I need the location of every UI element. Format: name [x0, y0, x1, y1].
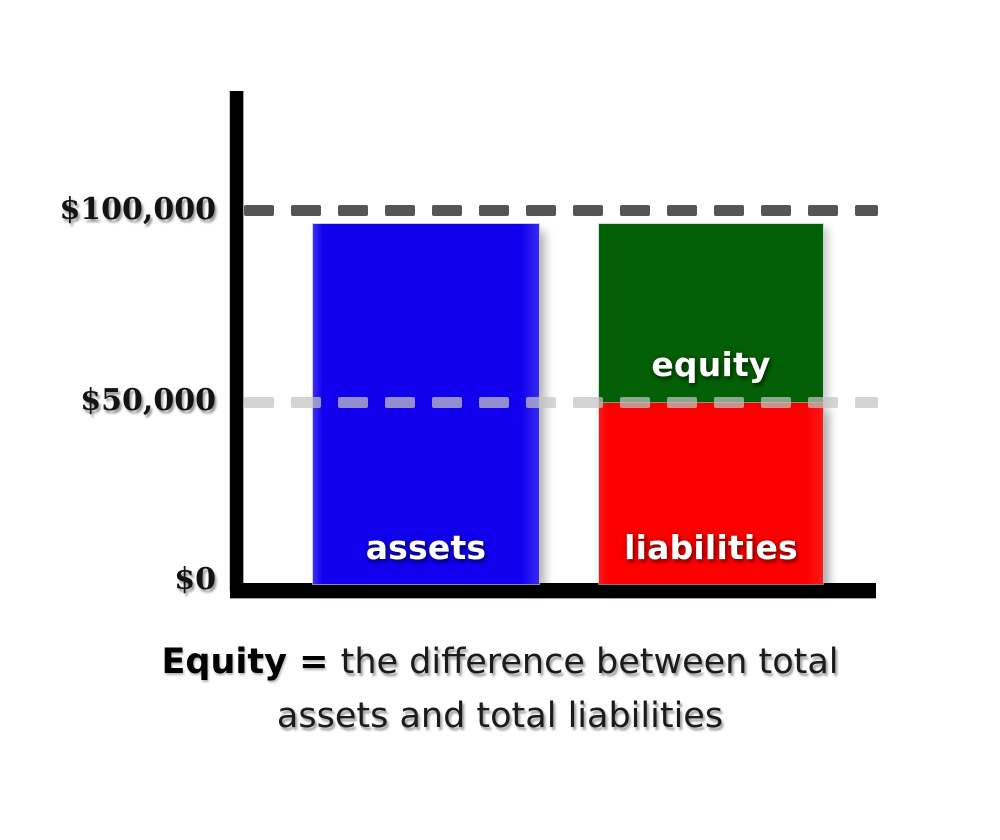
- bar-label-equity: equity: [599, 345, 823, 384]
- gridline-dash: [385, 205, 415, 216]
- gridline-dash: [479, 205, 509, 216]
- caption-equity-term: Equity =: [161, 642, 340, 682]
- gridline-dash: [291, 205, 321, 216]
- gridline-dash: [714, 397, 744, 408]
- gridline-dash: [244, 205, 274, 216]
- gridline-dash: [338, 397, 368, 408]
- caption-line-1-rest: the difference between total: [341, 642, 839, 682]
- gridline-dash: [667, 205, 697, 216]
- caption-line-2: assets and total liabilities: [0, 692, 1000, 746]
- gridline-dash: [573, 397, 603, 408]
- gridline-dash: [338, 205, 368, 216]
- gridline-dash: [761, 205, 791, 216]
- bar-label-assets: assets: [313, 528, 539, 567]
- bar-label-liabilities: liabilities: [597, 528, 825, 567]
- gridline-dash: [432, 205, 462, 216]
- gridline-dash: [526, 205, 556, 216]
- y-tick-label-0: $0: [0, 562, 216, 597]
- gridline-dash: [479, 397, 509, 408]
- gridline-dash: [291, 397, 321, 408]
- y-tick-label-100k: $100,000: [0, 192, 216, 227]
- y-tick-label-50k: $50,000: [0, 383, 216, 418]
- gridline-dash: [385, 397, 415, 408]
- caption-line-2-text: assets and total liabilities: [277, 696, 723, 736]
- gridline-dash: [761, 397, 791, 408]
- gridline-dash: [714, 205, 744, 216]
- gridline-dash: [432, 397, 462, 408]
- gridline-dash: [667, 397, 697, 408]
- gridline-dash: [620, 397, 650, 408]
- gridline-50k: [244, 397, 878, 408]
- gridline-dash: [573, 205, 603, 216]
- gridline-dash: [244, 397, 274, 408]
- gridline-100k: [244, 205, 878, 216]
- gridline-dash: [808, 205, 838, 216]
- x-axis: [230, 583, 876, 598]
- gridline-dash: [855, 397, 878, 408]
- gridline-dash: [620, 205, 650, 216]
- y-axis: [230, 91, 243, 591]
- chart-canvas: $100,000 $50,000 $0 assets liabilities e…: [0, 0, 1000, 840]
- chart-caption: Equity = the difference between total as…: [0, 638, 1000, 746]
- caption-line-1: Equity = the difference between total: [0, 638, 1000, 692]
- gridline-dash: [808, 397, 838, 408]
- gridline-dash: [526, 397, 556, 408]
- gridline-dash: [855, 205, 878, 216]
